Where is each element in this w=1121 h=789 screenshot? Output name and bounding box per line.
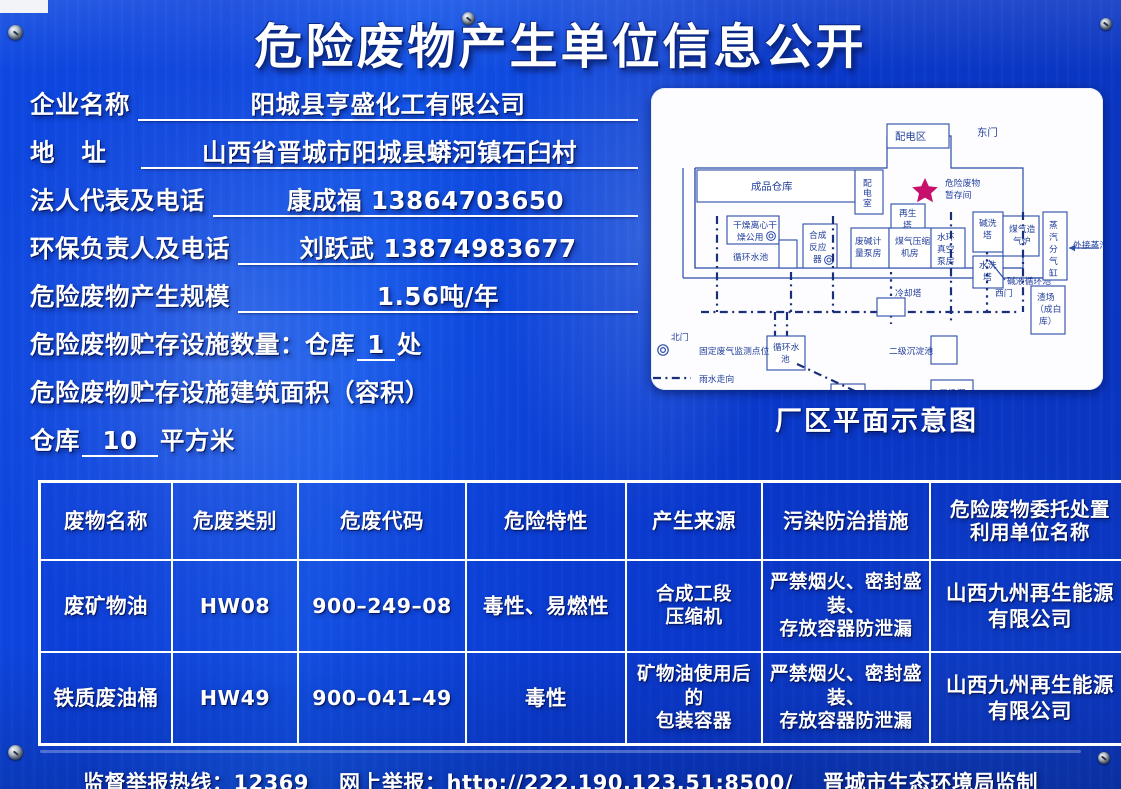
field-generation-scale: 危险废物产生规模 1.56吨/年 xyxy=(30,278,638,313)
screw-icon-bottom-right xyxy=(1098,752,1110,764)
table-row: 铁质废油桶 HW49 900–041–49 毒性 矿物油使用后的 包装容器 严禁… xyxy=(40,652,1121,745)
cell-measures-line1: 严禁烟火、密封盛装、 xyxy=(766,571,926,618)
info-board: 危险废物产生单位信息公开 企业名称 阳城县亨盛化工有限公司 地址 山西省晋城市阳… xyxy=(0,0,1121,789)
th-entrusted-line2: 利用单位名称 xyxy=(934,521,1121,545)
plan-box-label: 废碱计 xyxy=(855,235,882,247)
hazardous-waste-table: 废物名称 危废类别 危废代码 危险特性 产生来源 污染防治措施 危险废物委托处置… xyxy=(38,480,1121,746)
th-entrusted-line1: 危险废物委托处置 xyxy=(934,498,1121,522)
waste-table-wrap: 废物名称 危废类别 危废代码 危险特性 产生来源 污染防治措施 危险废物委托处置… xyxy=(0,470,1121,746)
plan-box-label: 真空 xyxy=(937,243,955,255)
field-label: 法人代表及电话 xyxy=(30,182,205,217)
th-waste-category: 危废类别 xyxy=(172,482,298,561)
plan-box-label: 外接蒸汽 xyxy=(1073,239,1103,251)
cell-source-line1: 合成工段 xyxy=(630,583,758,607)
monitor-point-icon xyxy=(657,345,667,355)
storage-area-prefix: 仓库 xyxy=(30,426,80,455)
cell-entrusted-unit: 山西九州再生能源 有限公司 xyxy=(930,652,1121,745)
field-label: 环保负责人及电话 xyxy=(30,230,230,265)
screw-icon-top-middle xyxy=(462,12,475,25)
company-info-fields: 企业名称 阳城县亨盛化工有限公司 地址 山西省晋城市阳城县蟒河镇石臼村 法人代表… xyxy=(30,84,638,470)
plan-box-label: 燥公用 xyxy=(737,232,763,243)
page-title: 危险废物产生单位信息公开 xyxy=(0,0,1121,78)
plan-gate-label: 北门 xyxy=(671,331,689,343)
cell-waste-code: 900–249–08 xyxy=(298,560,466,652)
th-hazard-characteristics: 危险特性 xyxy=(466,482,626,561)
plan-box-label: 水环 xyxy=(937,231,955,243)
plan-box-label: 泵房 xyxy=(937,255,955,267)
storage-area-value: 10 xyxy=(82,426,158,457)
field-value: 1.56吨/年 xyxy=(238,283,638,313)
field-env-officer-phone: 环保负责人及电话 刘跃武 13874983677 xyxy=(30,230,638,265)
cell-waste-name: 铁质废油桶 xyxy=(40,652,173,745)
plan-box-label: 配电区 xyxy=(895,130,926,143)
plan-box-label: 碱洗 xyxy=(979,217,997,229)
field-legal-rep-phone: 法人代表及电话 康成福 13864703650 xyxy=(30,182,638,217)
plan-box-label: 干燥离心干 xyxy=(733,219,777,231)
plan-gate-label: 东门 xyxy=(977,126,998,139)
plan-box-label: 汽 xyxy=(1049,231,1058,243)
plan-box-label: 反应 xyxy=(809,241,827,253)
plan-box-label: 冷却塔 xyxy=(895,287,922,299)
plan-box-label: 渣场 xyxy=(1037,291,1055,303)
cell-entrusted-line1: 山西九州再生能源 xyxy=(934,672,1121,698)
plan-box-label: 电 xyxy=(863,187,872,199)
cell-waste-name: 废矿物油 xyxy=(40,560,173,652)
cell-control-measures: 严禁烟火、密封盛装、 存放容器防泄漏 xyxy=(762,652,930,745)
th-entrusted-unit: 危险废物委托处置 利用单位名称 xyxy=(930,482,1121,561)
footer-divider xyxy=(40,750,1081,753)
cell-entrusted-unit: 山西九州再生能源 有限公司 xyxy=(930,560,1121,652)
field-label: 企业名称 xyxy=(30,86,130,121)
plan-box-label: （成白 xyxy=(1035,303,1061,315)
plan-box-label: 缸 xyxy=(1049,267,1058,279)
plan-box-label: 再生 xyxy=(899,207,917,219)
plan-star-label: 暂存间 xyxy=(945,189,972,201)
field-value: 康成福 13864703650 xyxy=(213,187,638,217)
cell-hazard-characteristics: 毒性、易燃性 xyxy=(466,560,626,652)
plan-box-label: 蒸 xyxy=(1049,219,1058,231)
field-label: 地址 xyxy=(30,134,133,169)
cell-source-line2: 包装容器 xyxy=(630,710,758,734)
cell-source-line2: 压缩机 xyxy=(630,606,758,630)
cell-measures-line2: 存放容器防泄漏 xyxy=(766,618,926,642)
plan-star-label: 危险废物 xyxy=(945,177,980,189)
footer-hotline: 监督举报热线：12369 xyxy=(83,767,309,789)
storage-count-prefix: 危险废物贮存设施数量：仓库 xyxy=(30,330,355,359)
cell-hazard-characteristics: 毒性 xyxy=(466,652,626,745)
storage-count-suffix: 处 xyxy=(397,330,422,359)
cell-entrusted-line2: 有限公司 xyxy=(934,606,1121,632)
plan-box-label: 池 xyxy=(781,353,790,365)
screw-icon-bottom-left xyxy=(8,745,23,760)
table-row: 废矿物油 HW08 900–249–08 毒性、易燃性 合成工段 压缩机 严禁烟… xyxy=(40,560,1121,652)
plan-box-label: 煤气压缩 xyxy=(895,235,930,247)
cell-waste-code: 900–041–49 xyxy=(298,652,466,745)
plan-box-label: 分 xyxy=(1049,244,1058,255)
storage-area-title: 危险废物贮存设施建筑面积（容积） xyxy=(30,378,430,407)
cell-control-measures: 严禁烟火、密封盛装、 存放容器防泄漏 xyxy=(762,560,930,652)
field-label: 危险废物产生规模 xyxy=(30,278,230,313)
plan-box-label: 气 xyxy=(1049,255,1058,267)
screw-icon-top-left xyxy=(8,25,23,40)
screw-icon-top-right xyxy=(1100,18,1112,30)
cell-waste-category: HW49 xyxy=(172,652,298,745)
th-waste-name: 废物名称 xyxy=(40,482,173,561)
th-waste-code: 危废代码 xyxy=(298,482,466,561)
plan-caption: 厂区平面示意图 xyxy=(775,399,978,438)
plan-box-label: 循环水池 xyxy=(733,251,768,263)
th-source: 产生来源 xyxy=(626,482,762,561)
footer-online-report: 网上举报：http://222.190.123.51:8500/ xyxy=(339,767,793,789)
plan-box-label: 塔 xyxy=(983,229,992,241)
plan-box-label: 器 xyxy=(813,254,822,265)
plan-box-label: 气炉 xyxy=(1013,235,1031,247)
storage-count-value: 1 xyxy=(357,330,395,361)
plan-svg: 配电区 东门 成品仓库 配 电 室 危险废物 xyxy=(651,88,1103,390)
plan-box-label: 成品仓库 xyxy=(751,180,793,193)
star-marker-icon xyxy=(912,178,938,202)
field-storage-area-value: 仓库10平方米 xyxy=(30,422,638,457)
plan-gate-label: 西门 xyxy=(995,287,1013,299)
plan-box-label: 库） xyxy=(1039,315,1057,327)
plan-box-label: 室 xyxy=(863,197,872,209)
cell-measures-line2: 存放容器防泄漏 xyxy=(766,710,926,734)
field-value: 刘跃武 13874983677 xyxy=(238,235,638,265)
plan-box-label: 机房 xyxy=(901,247,919,259)
field-address: 地址 山西省晋城市阳城县蟒河镇石臼村 xyxy=(30,134,638,169)
plan-box-label: 合成 xyxy=(809,229,827,241)
storage-area-suffix: 平方米 xyxy=(160,426,235,455)
plan-box-label: 二级沉淀池 xyxy=(889,345,933,357)
factory-plan-diagram: 配电区 东门 成品仓库 配 电 室 危险废物 xyxy=(651,88,1103,390)
plan-box-label: 循环水 xyxy=(773,341,800,353)
legend-text-rain: 雨水走向 xyxy=(699,373,734,385)
cell-measures-line1: 严禁烟火、密封盛装、 xyxy=(766,663,926,710)
field-value: 山西省晋城市阳城县蟒河镇石臼村 xyxy=(141,139,638,169)
field-company-name: 企业名称 阳城县亨盛化工有限公司 xyxy=(30,86,638,121)
field-storage-area-title: 危险废物贮存设施建筑面积（容积） xyxy=(30,374,638,409)
footer: 监督举报热线：12369 网上举报：http://222.190.123.51:… xyxy=(0,753,1121,789)
cell-entrusted-line1: 山西九州再生能源 xyxy=(934,580,1121,606)
field-storage-facility-count: 危险废物贮存设施数量：仓库1处 xyxy=(30,326,638,361)
field-value: 阳城县亨盛化工有限公司 xyxy=(138,91,638,121)
cell-entrusted-line2: 有限公司 xyxy=(934,698,1121,724)
top-section: 企业名称 阳城县亨盛化工有限公司 地址 山西省晋城市阳城县蟒河镇石臼村 法人代表… xyxy=(0,78,1121,470)
cell-source-line1: 矿物油使用后的 xyxy=(630,663,758,710)
footer-authority: 晋城市生态环境局监制 xyxy=(823,767,1038,789)
plan-section: 配电区 东门 成品仓库 配 电 室 危险废物 xyxy=(648,84,1105,438)
cell-source: 矿物油使用后的 包装容器 xyxy=(626,652,762,745)
cell-source: 合成工段 压缩机 xyxy=(626,560,762,652)
table-header-row: 废物名称 危废类别 危废代码 危险特性 产生来源 污染防治措施 危险废物委托处置… xyxy=(40,482,1121,561)
plan-box-label: 量泵房 xyxy=(855,247,882,259)
th-control-measures: 污染防治措施 xyxy=(762,482,930,561)
plan-box-label: 配 xyxy=(863,178,872,189)
cell-waste-category: HW08 xyxy=(172,560,298,652)
legend-text-monitor: 固定废气监测点位 xyxy=(699,345,770,357)
